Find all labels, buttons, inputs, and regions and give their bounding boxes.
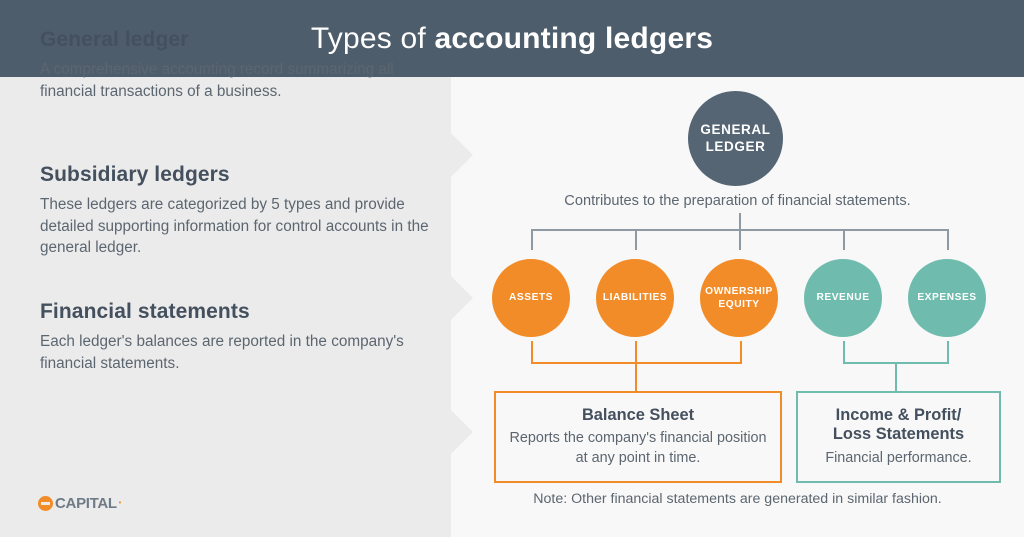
connector-drop-gray — [635, 229, 637, 250]
connector-drop-gray — [531, 229, 533, 250]
section-general-ledger: General ledger A comprehensive accountin… — [40, 28, 440, 102]
infographic-root: Types of accounting ledgers General ledg… — [0, 0, 1024, 537]
section-title: General ledger — [40, 28, 440, 52]
node-revenue: REVENUE — [804, 259, 882, 337]
connector-drop-gray — [947, 229, 949, 250]
e-circle-icon — [38, 496, 53, 511]
connector-drop-orange — [531, 341, 533, 364]
connector-drop-orange — [635, 341, 637, 364]
node-label-line2: LEDGER — [706, 139, 766, 156]
card-description: Financial performance. — [825, 449, 971, 468]
node-assets: ASSETS — [492, 259, 570, 337]
section-subsidiary-ledgers: Subsidiary ledgers These ledgers are cat… — [40, 163, 440, 259]
section-body: Each ledger's balances are reported in t… — [40, 331, 440, 374]
card-income-loss-statements: Income & Profit/Loss Statements Financia… — [796, 391, 1001, 483]
footer-note: Note: Other financial statements are gen… — [451, 491, 1024, 507]
section-title: Subsidiary ledgers — [40, 163, 440, 187]
section-body: A comprehensive accounting record summar… — [40, 59, 440, 102]
card-title: Income & Profit/Loss Statements — [833, 406, 964, 444]
connector-drop-gray — [843, 229, 845, 250]
card-balance-sheet: Balance Sheet Reports the company's fina… — [494, 391, 782, 483]
node-liabilities: LIABILITIES — [596, 259, 674, 337]
connector-drop-gray — [739, 229, 741, 250]
section-body: These ledgers are categorized by 5 types… — [40, 194, 440, 259]
connector-drop-teal — [947, 341, 949, 364]
section-title: Financial statements — [40, 300, 440, 324]
ecapital-logo: CAPITAL • — [38, 495, 121, 512]
card-description: Reports the company's financial position… — [506, 429, 770, 467]
page-title-bold: accounting ledgers — [434, 22, 713, 55]
node-general-ledger: GENERAL LEDGER — [688, 91, 783, 186]
logo-trademark: • — [119, 500, 121, 507]
connector-stem-teal — [895, 362, 897, 392]
connector-drop-teal — [843, 341, 845, 364]
card-title: Balance Sheet — [582, 406, 694, 425]
node-expenses: EXPENSES — [908, 259, 986, 337]
node-label-line1: GENERAL — [700, 122, 770, 139]
diagram-canvas: GENERAL LEDGER Contributes to the prepar… — [451, 77, 1024, 537]
section-financial-statements: Financial statements Each ledger's balan… — [40, 300, 440, 374]
logo-wordmark: CAPITAL — [55, 495, 117, 512]
connector-stem-orange — [635, 362, 637, 392]
diagram-caption: Contributes to the preparation of financ… — [451, 193, 1024, 209]
connector-drop-orange — [740, 341, 742, 364]
node-ownership-equity: OWNERSHIPEQUITY — [700, 259, 778, 337]
